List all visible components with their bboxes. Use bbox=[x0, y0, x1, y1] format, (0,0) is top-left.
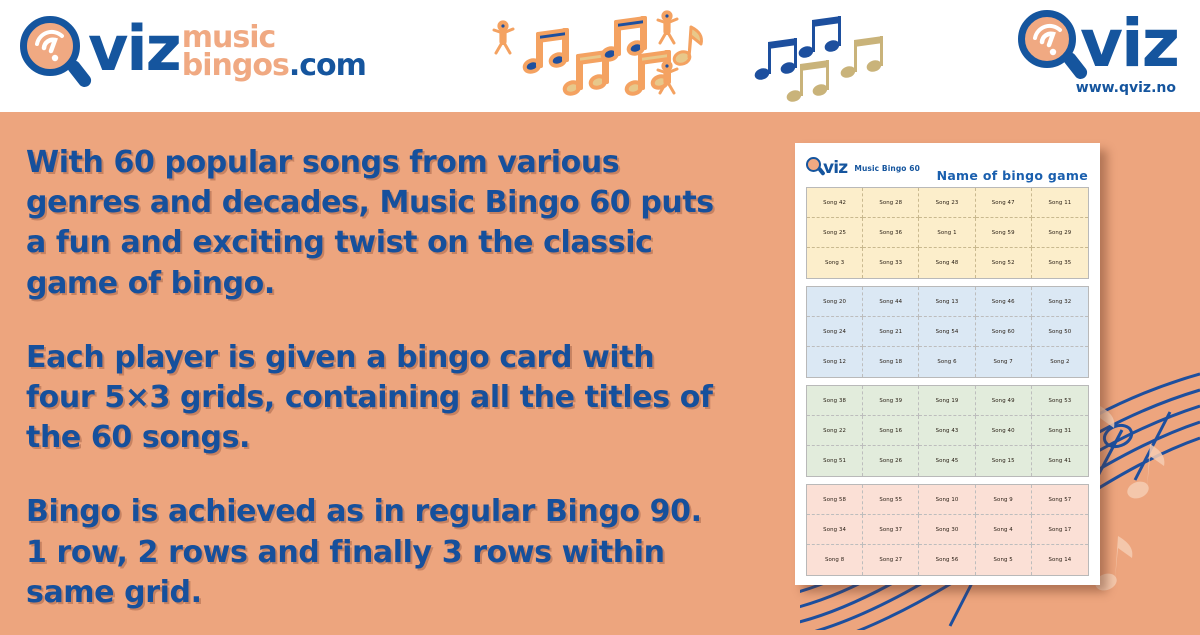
bingo-cell[interactable]: Song 55 bbox=[863, 485, 919, 515]
bingo-cell[interactable]: Song 16 bbox=[863, 416, 919, 446]
bingo-cell[interactable]: Song 13 bbox=[919, 287, 975, 317]
bingo-cell[interactable]: Song 7 bbox=[976, 347, 1032, 377]
bingo-cell[interactable]: Song 44 bbox=[863, 287, 919, 317]
bingo-cell[interactable]: Song 38 bbox=[807, 386, 863, 416]
bingo-cell[interactable]: Song 20 bbox=[807, 287, 863, 317]
bingo-cell[interactable]: Song 22 bbox=[807, 416, 863, 446]
bingo-cell[interactable]: Song 35 bbox=[1032, 248, 1088, 278]
logo-viz-text: viz bbox=[1080, 14, 1178, 73]
bingo-card-preview[interactable]: viz Music Bingo 60 Name of bingo game So… bbox=[795, 143, 1100, 585]
logo-qvizmusicbingos[interactable]: viz music bingos.com bbox=[18, 14, 366, 98]
bingo-cell[interactable]: Song 15 bbox=[976, 446, 1032, 476]
bingo-cell[interactable]: Song 1 bbox=[919, 218, 975, 248]
paragraph-1: With 60 popular songs from various genre… bbox=[26, 143, 726, 304]
bingo-grid-3[interactable]: Song 38 Song 39 Song 19 Song 49 Song 53 … bbox=[806, 385, 1089, 477]
description-copy: With 60 popular songs from various genre… bbox=[26, 143, 726, 613]
bingo-cell[interactable]: Song 46 bbox=[976, 287, 1032, 317]
bingo-cell[interactable]: Song 17 bbox=[1032, 515, 1088, 545]
bingo-cell[interactable]: Song 28 bbox=[863, 188, 919, 218]
logo-qviz[interactable]: viz www.qviz.no bbox=[1016, 8, 1178, 96]
bingo-cell[interactable]: Song 6 bbox=[919, 347, 975, 377]
paragraph-3: Bingo is achieved as in regular Bingo 90… bbox=[26, 492, 726, 613]
bingo-cell[interactable]: Song 54 bbox=[919, 317, 975, 347]
bingo-cell[interactable]: Song 12 bbox=[807, 347, 863, 377]
bingo-cell[interactable]: Song 36 bbox=[863, 218, 919, 248]
bingo-cell[interactable]: Song 52 bbox=[976, 248, 1032, 278]
bingo-cell[interactable]: Song 50 bbox=[1032, 317, 1088, 347]
paragraph-2: Each player is given a bingo card with f… bbox=[26, 338, 726, 459]
bingo-cell[interactable]: Song 34 bbox=[807, 515, 863, 545]
bingo-cell[interactable]: Song 41 bbox=[1032, 446, 1088, 476]
bingo-cell[interactable]: Song 33 bbox=[863, 248, 919, 278]
bingo-cell[interactable]: Song 56 bbox=[919, 545, 975, 575]
magnifier-question-icon bbox=[1016, 8, 1088, 88]
magnifier-question-icon bbox=[18, 14, 94, 98]
card-product-title: Music Bingo 60 bbox=[854, 164, 920, 173]
bingo-cell[interactable]: Song 58 bbox=[807, 485, 863, 515]
bingo-cell[interactable]: Song 27 bbox=[863, 545, 919, 575]
bingo-cell[interactable]: Song 10 bbox=[919, 485, 975, 515]
bingo-cell[interactable]: Song 47 bbox=[976, 188, 1032, 218]
bingo-cell[interactable]: Song 29 bbox=[1032, 218, 1088, 248]
bingo-cell[interactable]: Song 9 bbox=[976, 485, 1032, 515]
magnifier-question-icon bbox=[806, 157, 825, 179]
bingo-cell[interactable]: Song 32 bbox=[1032, 287, 1088, 317]
bingo-cell[interactable]: Song 30 bbox=[919, 515, 975, 545]
bingo-grid-2[interactable]: Song 20 Song 44 Song 13 Song 46 Song 32 … bbox=[806, 286, 1089, 378]
bingo-cell[interactable]: Song 43 bbox=[919, 416, 975, 446]
bingo-cell[interactable]: Song 21 bbox=[863, 317, 919, 347]
bingo-cell[interactable]: Song 49 bbox=[976, 386, 1032, 416]
bingo-cell[interactable]: Song 45 bbox=[919, 446, 975, 476]
bingo-cell[interactable]: Song 24 bbox=[807, 317, 863, 347]
bingo-cell[interactable]: Song 23 bbox=[919, 188, 975, 218]
bingo-cell[interactable]: Song 37 bbox=[863, 515, 919, 545]
bingo-cell[interactable]: Song 53 bbox=[1032, 386, 1088, 416]
card-brand-viz: viz bbox=[823, 158, 847, 178]
header-bar: viz music bingos.com bbox=[0, 0, 1200, 112]
bingo-cell[interactable]: Song 14 bbox=[1032, 545, 1088, 575]
bingo-cell[interactable]: Song 39 bbox=[863, 386, 919, 416]
bingo-cell[interactable]: Song 51 bbox=[807, 446, 863, 476]
bingo-cell[interactable]: Song 26 bbox=[863, 446, 919, 476]
bingo-cell[interactable]: Song 40 bbox=[976, 416, 1032, 446]
logo-viz-text: viz bbox=[88, 20, 180, 79]
logo-dotcom-text: .com bbox=[289, 48, 366, 83]
bingo-cell[interactable]: Song 11 bbox=[1032, 188, 1088, 218]
bingo-cell[interactable]: Song 25 bbox=[807, 218, 863, 248]
bingo-cell[interactable]: Song 4 bbox=[976, 515, 1032, 545]
bingo-cell[interactable]: Song 2 bbox=[1032, 347, 1088, 377]
bingo-cell[interactable]: Song 19 bbox=[919, 386, 975, 416]
bingo-grid-4[interactable]: Song 58 Song 55 Song 10 Song 9 Song 57 S… bbox=[806, 484, 1089, 576]
bingo-cell[interactable]: Song 42 bbox=[807, 188, 863, 218]
bingo-cell[interactable]: Song 60 bbox=[976, 317, 1032, 347]
bingo-card-header: viz Music Bingo 60 Name of bingo game bbox=[806, 153, 1089, 183]
bingo-cell[interactable]: Song 57 bbox=[1032, 485, 1088, 515]
logo-bingos-text: bingos bbox=[182, 48, 289, 83]
bingo-grids: Song 42 Song 28 Song 23 Song 47 Song 11 … bbox=[806, 183, 1089, 576]
card-game-name: Name of bingo game bbox=[937, 168, 1088, 183]
bingo-cell[interactable]: Song 59 bbox=[976, 218, 1032, 248]
bingo-cell[interactable]: Song 31 bbox=[1032, 416, 1088, 446]
bingo-cell[interactable]: Song 48 bbox=[919, 248, 975, 278]
music-notes-and-dancers-decoration bbox=[480, 4, 900, 109]
bingo-cell[interactable]: Song 8 bbox=[807, 545, 863, 575]
bingo-cell[interactable]: Song 3 bbox=[807, 248, 863, 278]
bingo-cell[interactable]: Song 18 bbox=[863, 347, 919, 377]
bingo-grid-1[interactable]: Song 42 Song 28 Song 23 Song 47 Song 11 … bbox=[806, 187, 1089, 279]
bingo-cell[interactable]: Song 5 bbox=[976, 545, 1032, 575]
